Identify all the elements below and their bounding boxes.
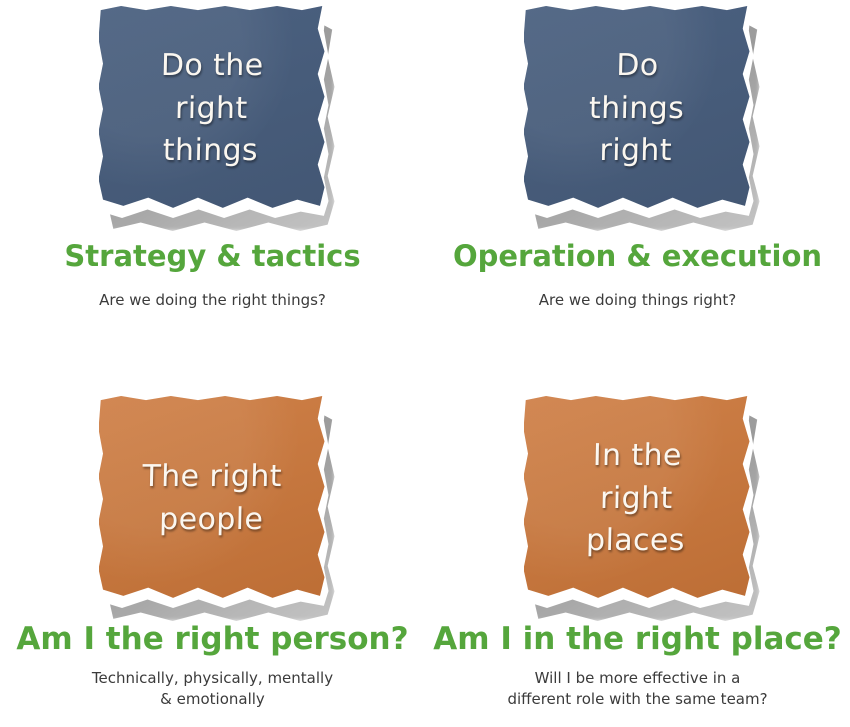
tile-face: Do things right	[524, 6, 750, 212]
quadrant-subtitle-line: Are we doing the right things?	[99, 290, 326, 311]
quadrant-subtitle-line: Will I be more effective in a	[507, 668, 767, 689]
torn-paper-tile-operation: Do things right	[522, 5, 754, 218]
tile-text-line: Do the	[161, 45, 265, 88]
quadrant-subtitle: Are we doing things right?	[539, 290, 736, 311]
torn-paper-tile-places: In the right places	[522, 395, 754, 608]
tile-text: Do things right	[574, 45, 700, 173]
tile-text-line: right	[587, 478, 687, 521]
quadrant-subtitle-line: different role with the same team?	[507, 689, 767, 710]
quadrant-subtitle: Are we doing the right things?	[99, 290, 326, 311]
tile-text-line: Do	[589, 45, 685, 88]
quadrant-subtitle: Technically, physically, mentally & emot…	[92, 668, 333, 711]
quadrant-heading: Operation & execution	[453, 241, 822, 273]
quadrant-subtitle-line: Technically, physically, mentally	[92, 668, 333, 689]
tile-text-line: things	[588, 88, 684, 131]
quadrant-heading: Am I the right person?	[16, 622, 408, 656]
tile-text-line: places	[586, 520, 686, 563]
quadrant-subtitle-line: & emotionally	[92, 689, 333, 710]
four-quadrant-board: Do the right things Strategy & tactics A…	[0, 0, 850, 727]
quadrant-right-places: In the right places Am I in the right pl…	[425, 364, 850, 727]
quadrant-operation-execution: Do things right Operation & execution Ar…	[425, 0, 850, 364]
tile-face: The right people	[99, 396, 325, 602]
tile-text-line: In the	[588, 435, 688, 478]
tile-text-line: things	[159, 130, 263, 173]
torn-paper-tile-strategy: Do the right things	[97, 5, 329, 218]
quadrant-heading: Am I in the right place?	[433, 622, 842, 656]
tile-text: The right people	[127, 456, 296, 541]
tile-face: Do the right things	[99, 6, 325, 212]
quadrant-subtitle-line: Are we doing things right?	[539, 290, 736, 311]
quadrant-strategy-tactics: Do the right things Strategy & tactics A…	[0, 0, 425, 364]
tile-text-line: people	[141, 499, 281, 542]
quadrant-subtitle: Will I be more effective in a different …	[507, 668, 767, 711]
tile-text-line: right	[160, 88, 264, 131]
tile-text-line: The right	[142, 456, 282, 499]
tile-text-line: right	[588, 130, 684, 173]
torn-paper-tile-people: The right people	[97, 395, 329, 608]
quadrant-heading: Strategy & tactics	[64, 241, 360, 273]
tile-text: In the right places	[572, 435, 701, 563]
quadrant-right-people: The right people Am I the right person? …	[0, 364, 425, 727]
tile-text: Do the right things	[145, 45, 278, 173]
tile-face: In the right places	[524, 396, 750, 602]
